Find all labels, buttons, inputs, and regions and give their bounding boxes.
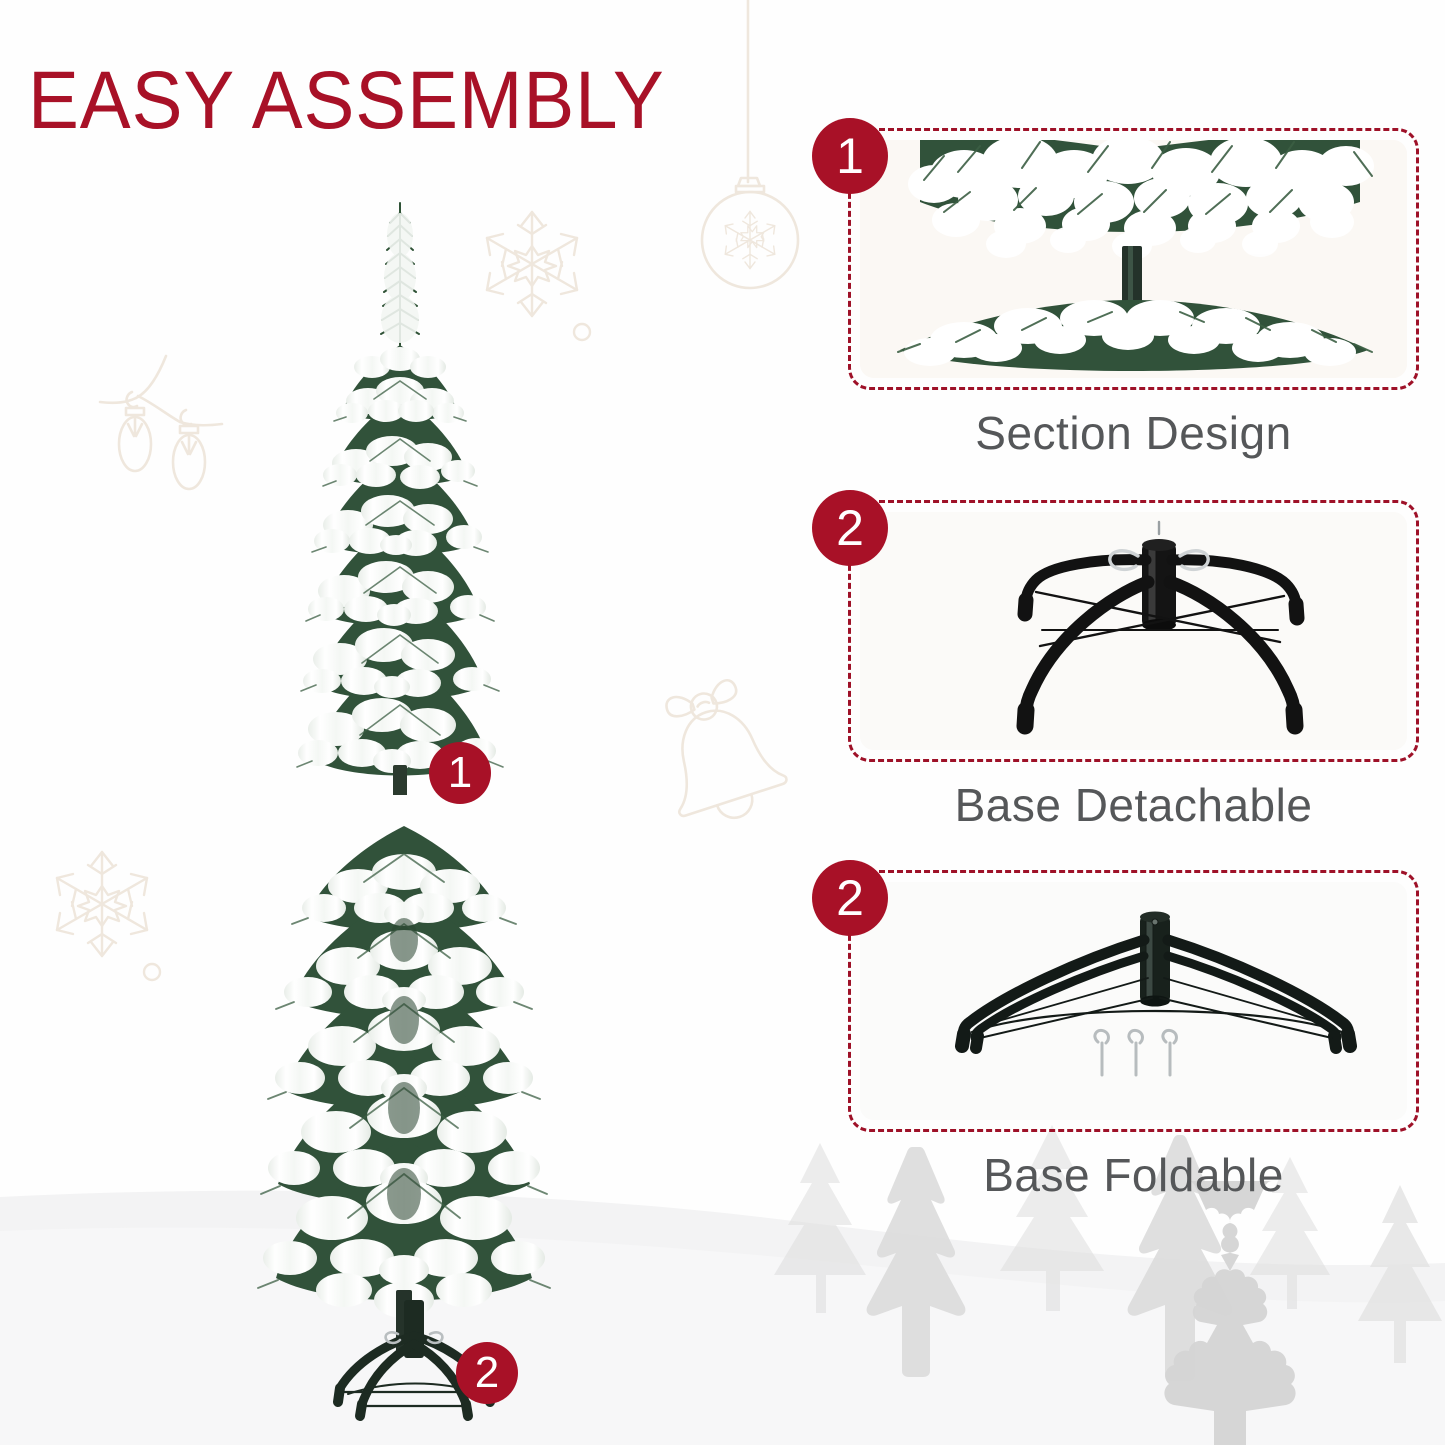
product-badge-2-number: 2 bbox=[475, 1348, 499, 1398]
panel-2-badge: 2 bbox=[812, 490, 888, 566]
tree-upper-section bbox=[276, 195, 526, 795]
panel-3-image bbox=[860, 882, 1407, 1120]
panel-2-badge-number: 2 bbox=[836, 499, 864, 557]
page-title: EASY ASSEMBLY bbox=[28, 60, 665, 142]
panel-1-badge: 1 bbox=[812, 118, 888, 194]
product-badge-1-number: 1 bbox=[448, 748, 472, 798]
product-badge-2: 2 bbox=[456, 1342, 518, 1404]
panel-2-image bbox=[860, 512, 1407, 750]
panel-3-badge-number: 2 bbox=[836, 869, 864, 927]
feature-panels: 1 Section Design bbox=[812, 118, 1437, 1348]
panel-1-image bbox=[860, 140, 1407, 378]
panel-2-caption: Base Detachable bbox=[848, 778, 1419, 832]
infographic-canvas: EASY ASSEMBLY bbox=[0, 0, 1445, 1445]
tree-lower-section bbox=[248, 820, 560, 1360]
product-showcase: 1 2 bbox=[0, 0, 800, 1445]
product-badge-1: 1 bbox=[429, 742, 491, 804]
panel-1-caption: Section Design bbox=[848, 406, 1419, 460]
panel-3-badge: 2 bbox=[812, 860, 888, 936]
panel-3-caption: Base Foldable bbox=[848, 1148, 1419, 1202]
panel-1-badge-number: 1 bbox=[836, 127, 864, 185]
